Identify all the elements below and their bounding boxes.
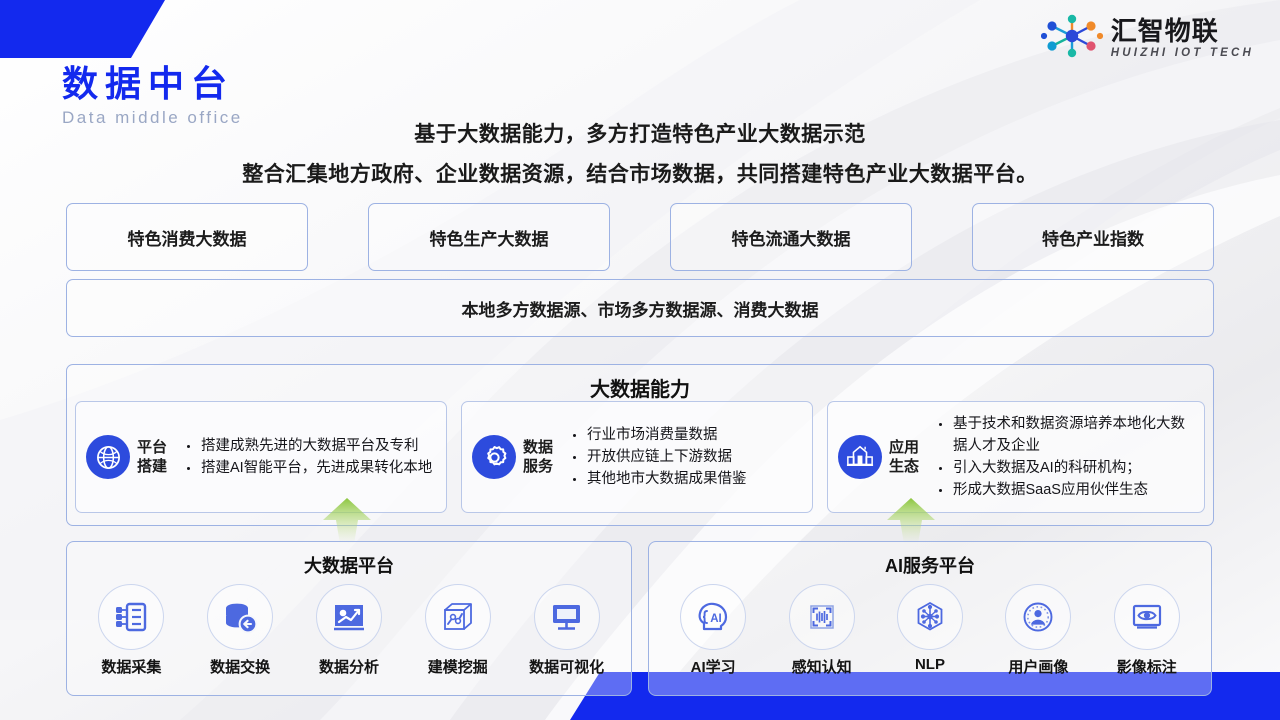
capability-panel: 大数据能力 平台 搭建 搭建成熟先进: [66, 364, 1214, 526]
page-title: 数据中台: [62, 64, 243, 104]
capability-card-app-ecosystem[interactable]: 应用 生态 基于技术和数据资源培养本地化大数据人才及企业 引入大数据及AI的科研…: [827, 401, 1205, 513]
capability-bullet-list: 基于技术和数据资源培养本地化大数据人才及企业 引入大数据及AI的科研机构； 形成…: [923, 413, 1196, 501]
data-source-bar[interactable]: 本地多方数据源、市场多方数据源、消费大数据: [66, 279, 1214, 337]
platform-item-user-profile[interactable]: 用户画像: [988, 584, 1088, 677]
platform-item-visualization[interactable]: 数据可视化: [517, 584, 617, 677]
platform-item-label: 感知认知: [792, 656, 852, 677]
bullet-item: 形成大数据SaaS应用伙伴生态: [939, 479, 1196, 501]
slide-canvas: 数据中台 Data middle office: [0, 0, 1280, 720]
platform-item-data-analysis[interactable]: 数据分析: [299, 584, 399, 677]
bullet-item: 引入大数据及AI的科研机构；: [939, 457, 1196, 479]
platform-item-model-mining[interactable]: 建模挖掘: [408, 584, 508, 677]
platform-panel-bigdata: 大数据平台: [66, 541, 632, 696]
image-eye-icon: [1114, 584, 1180, 650]
capability-bullet-list: 行业市场消费量数据 开放供应链上下游数据 其他地市大数据成果借鉴: [557, 424, 804, 490]
monitor-visualization-icon: [534, 584, 600, 650]
platform-panel-title: 大数据平台: [67, 552, 631, 578]
platform-panel-row: 大数据平台: [66, 541, 1212, 696]
capability-card-data-service[interactable]: 数据 服务 行业市场消费量数据 开放供应链上下游数据 其他地市大数据成果借鉴: [461, 401, 813, 513]
headline-primary: 基于大数据能力，多方打造特色产业大数据示范: [0, 118, 1280, 148]
category-pill[interactable]: 特色产业指数: [972, 203, 1214, 271]
capability-card-label: 应用 生态: [889, 438, 923, 476]
capability-card-label: 数据 服务: [523, 438, 557, 476]
platform-item-label: 数据交换: [210, 656, 270, 677]
capability-panel-title: 大数据能力: [67, 373, 1213, 402]
category-pill[interactable]: 特色流通大数据: [670, 203, 912, 271]
brand-logo: 汇智物联 HUIZHI IOT TECH: [1041, 13, 1254, 64]
platform-item-label: 数据可视化: [529, 656, 604, 677]
category-pill-row: 特色消费大数据 特色生产大数据 特色流通大数据 特色产业指数: [66, 203, 1214, 269]
platform-item-data-collection[interactable]: 数据采集: [81, 584, 181, 677]
bullet-item: 行业市场消费量数据: [573, 424, 804, 446]
capability-card-row: 平台 搭建 搭建成熟先进的大数据平台及专利 搭建AI智能平台，先进成果转化本地: [75, 401, 1205, 513]
platform-item-data-exchange[interactable]: 数据交换: [190, 584, 290, 677]
brand-logo-text: 汇智物联 HUIZHI IOT TECH: [1111, 18, 1254, 60]
globe-icon: [86, 435, 130, 479]
bullet-item: 搭建AI智能平台，先进成果转化本地: [187, 457, 438, 479]
brand-name-en: HUIZHI IOT TECH: [1111, 48, 1254, 60]
analytics-chart-icon: [316, 584, 382, 650]
platform-item-perception[interactable]: 感知认知: [772, 584, 872, 677]
platform-icon-row: 数据采集 数据交换: [67, 584, 631, 677]
neural-network-icon: [897, 584, 963, 650]
platform-item-label: 建模挖掘: [428, 656, 488, 677]
brand-name-cn: 汇智物联: [1111, 18, 1219, 44]
capability-bullet-list: 搭建成熟先进的大数据平台及专利 搭建AI智能平台，先进成果转化本地: [171, 435, 438, 479]
capability-card-label: 平台 搭建: [137, 438, 171, 476]
bullet-item: 搭建成熟先进的大数据平台及专利: [187, 435, 438, 457]
platform-item-label: 数据分析: [319, 656, 379, 677]
bullet-item: 开放供应链上下游数据: [573, 446, 804, 468]
platform-panel-ai: AI服务平台 AI AI学习: [648, 541, 1212, 696]
platform-item-label: 影像标注: [1117, 656, 1177, 677]
platform-item-label: 用户画像: [1008, 656, 1068, 677]
database-exchange-icon: [207, 584, 273, 650]
building-icon: [838, 435, 882, 479]
category-pill[interactable]: 特色消费大数据: [66, 203, 308, 271]
bullet-item: 其他地市大数据成果借鉴: [573, 468, 804, 490]
category-pill[interactable]: 特色生产大数据: [368, 203, 610, 271]
platform-item-label: AI学习: [691, 656, 736, 677]
bullet-item: 基于技术和数据资源培养本地化大数据人才及企业: [939, 413, 1196, 457]
platform-item-label: NLP: [915, 656, 945, 673]
platform-item-nlp[interactable]: NLP: [880, 584, 980, 673]
data-collection-icon: [98, 584, 164, 650]
platform-panel-title: AI服务平台: [649, 552, 1211, 578]
gear-icon: [472, 435, 516, 479]
ai-head-icon: AI: [680, 584, 746, 650]
platform-item-label: 数据采集: [101, 656, 161, 677]
model-mining-icon: [425, 584, 491, 650]
headline-secondary: 整合汇集地方政府、企业数据资源，结合市场数据，共同搭建特色产业大数据平台。: [0, 158, 1280, 188]
user-profile-icon: [1005, 584, 1071, 650]
capability-card-platform[interactable]: 平台 搭建 搭建成熟先进的大数据平台及专利 搭建AI智能平台，先进成果转化本地: [75, 401, 447, 513]
svg-text:AI: AI: [710, 613, 722, 625]
scan-waveform-icon: [789, 584, 855, 650]
molecule-network-icon: [1041, 13, 1103, 64]
platform-icon-row: AI AI学习: [649, 584, 1211, 677]
platform-item-ai-learning[interactable]: AI AI学习: [663, 584, 763, 677]
platform-item-image-annotation[interactable]: 影像标注: [1097, 584, 1197, 677]
